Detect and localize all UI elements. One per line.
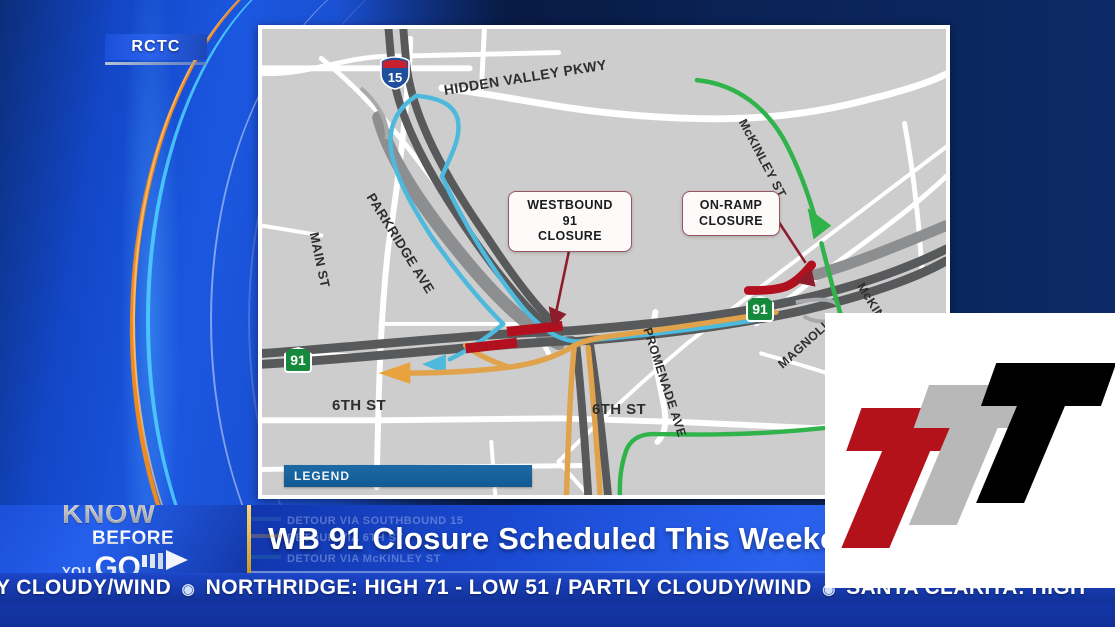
source-badge: RCTC — [105, 34, 207, 65]
ghost-swatch-1 — [251, 517, 281, 521]
ticker-segment-2: NORTHRIDGE: HIGH 71 - LOW 51 / PARTLY CL… — [206, 576, 812, 599]
ttt-logo-overlay — [825, 313, 1115, 588]
weather-dot-icon: ◉ — [177, 580, 199, 598]
ttt-logo-icon — [825, 313, 1115, 588]
interstate-shield-icon: 15 — [380, 56, 410, 90]
svg-text:15: 15 — [388, 70, 402, 85]
westbound-callout-line2: CLOSURE — [518, 229, 622, 245]
westbound-callout-line1: WESTBOUND 91 — [518, 198, 622, 229]
sixth-st-label-west: 6TH ST — [332, 397, 386, 414]
know-before-you-go-logo: KNOW BEFORE YOU GO — [0, 505, 247, 573]
ghost-legend-2: DETOUR VIA 6TH ST — [287, 532, 404, 544]
ghost-legend-3: DETOUR VIA McKINLEY ST — [287, 553, 441, 565]
route-91-shield-east: 91 — [746, 296, 774, 322]
kbg-go-text: GO — [95, 554, 141, 573]
legend-title: LEGEND — [294, 469, 350, 483]
onramp-callout-line2: CLOSURE — [692, 214, 770, 230]
route-91-shield-east-label: 91 — [752, 301, 768, 317]
kbg-know-text: KNOW — [62, 505, 194, 529]
orange-detour-arrow — [379, 362, 411, 384]
westbound-91-closure-callout: WESTBOUND 91 CLOSURE — [508, 191, 632, 252]
on-ramp-closure-callout: ON-RAMP CLOSURE — [682, 191, 780, 236]
sixth-st-label-east: 6TH ST — [592, 401, 646, 418]
right-arrow-icon — [142, 547, 194, 573]
route-91-shield-west: 91 — [284, 347, 312, 373]
broadcast-screen: RCTC — [0, 0, 1115, 627]
source-badge-underline — [105, 62, 207, 65]
legend-header: LEGEND — [284, 465, 532, 487]
ghost-legend-1: DETOUR VIA SOUTHBOUND 15 — [287, 515, 463, 527]
interstate-15-shield: 15 — [380, 56, 410, 90]
ghost-swatch-2 — [251, 534, 281, 538]
source-badge-label: RCTC — [131, 38, 181, 56]
route-91-shield-west-label: 91 — [290, 352, 306, 368]
ticker-segment-1: Y CLOUDY/WIND — [0, 576, 171, 599]
kbg-you-text: YOU — [62, 564, 92, 573]
ghost-swatch-3 — [251, 555, 281, 559]
onramp-callout-line1: ON-RAMP — [692, 198, 770, 214]
kbg-before-text: BEFORE — [92, 529, 194, 548]
